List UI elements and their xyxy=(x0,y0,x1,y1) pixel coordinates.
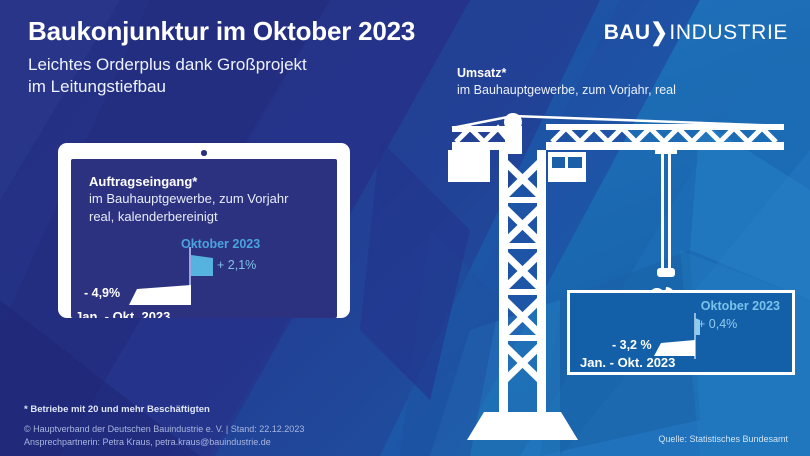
infographic-root: Baukonjunktur im Oktober 2023 Leichtes O… xyxy=(0,0,810,456)
subtitle-line-1: Leichtes Orderplus dank Großprojekt xyxy=(28,54,307,76)
page-title: Baukonjunktur im Oktober 2023 xyxy=(28,16,415,47)
umsatz-heading: Umsatz* xyxy=(457,65,676,82)
umsatz-caption: Umsatz* im Bauhauptgewerbe, zum Vorjahr,… xyxy=(457,65,676,99)
chart-value-oktober: + 2,1% xyxy=(217,258,256,272)
auftragseingang-chart-panel: Auftragseingang* im Bauhauptgewerbe, zum… xyxy=(71,159,337,318)
laptop-camera-icon xyxy=(201,150,207,156)
laptop-illustration: Auftragseingang* im Bauhauptgewerbe, zum… xyxy=(58,143,350,318)
chart-label-current-period: Oktober 2023 xyxy=(181,237,260,251)
chart-value-jan-okt: - 4,9% xyxy=(84,286,120,300)
umsatz-chart-panel: Oktober 2023 + 0,4% - 3,2 % Jan. - Okt. … xyxy=(567,290,795,375)
umsatz-bar-negative-jan-okt xyxy=(654,340,695,356)
logo-light-text: INDUSTRIE xyxy=(669,21,788,45)
footer-legal-line-2: Ansprechpartnerin: Petra Kraus, petra.kr… xyxy=(24,436,304,449)
umsatz-subline: im Bauhauptgewerbe, zum Vorjahr, real xyxy=(457,82,676,99)
bar-positive-oktober xyxy=(191,255,217,276)
page-subtitle: Leichtes Orderplus dank Großprojekt im L… xyxy=(28,54,307,99)
logo-bold-text: BAU xyxy=(604,21,651,45)
umsatz-value-jan-okt: - 3,2 % xyxy=(612,338,652,352)
auftragseingang-subline-2: real, kalenderbereinigt xyxy=(89,208,288,225)
umsatz-label-current-period: Oktober 2023 xyxy=(701,299,780,313)
chevron-right-icon: ❯ xyxy=(650,18,668,47)
footer-legal: © Hauptverband der Deutschen Bauindustri… xyxy=(24,423,304,449)
chart-label-cumulative-period: Jan. - Okt. 2023 xyxy=(75,309,170,318)
umsatz-label-cumulative-period: Jan. - Okt. 2023 xyxy=(580,355,675,370)
umsatz-value-oktober: + 0,4% xyxy=(698,317,737,331)
footer-source: Quelle: Statistisches Bundesamt xyxy=(658,434,788,444)
auftragseingang-caption: Auftragseingang* im Bauhauptgewerbe, zum… xyxy=(89,173,288,225)
footnote-text: * Betriebe mit 20 und mehr Beschäftigten xyxy=(24,404,210,415)
auftragseingang-heading: Auftragseingang* xyxy=(89,173,288,190)
bauindustrie-logo: BAU ❯ INDUSTRIE xyxy=(604,20,788,45)
subtitle-line-2: im Leitungstiefbau xyxy=(28,76,307,98)
footer-legal-line-1: © Hauptverband der Deutschen Bauindustri… xyxy=(24,423,304,436)
auftragseingang-subline-1: im Bauhauptgewerbe, zum Vorjahr xyxy=(89,190,288,207)
bar-negative-jan-okt xyxy=(129,285,191,305)
